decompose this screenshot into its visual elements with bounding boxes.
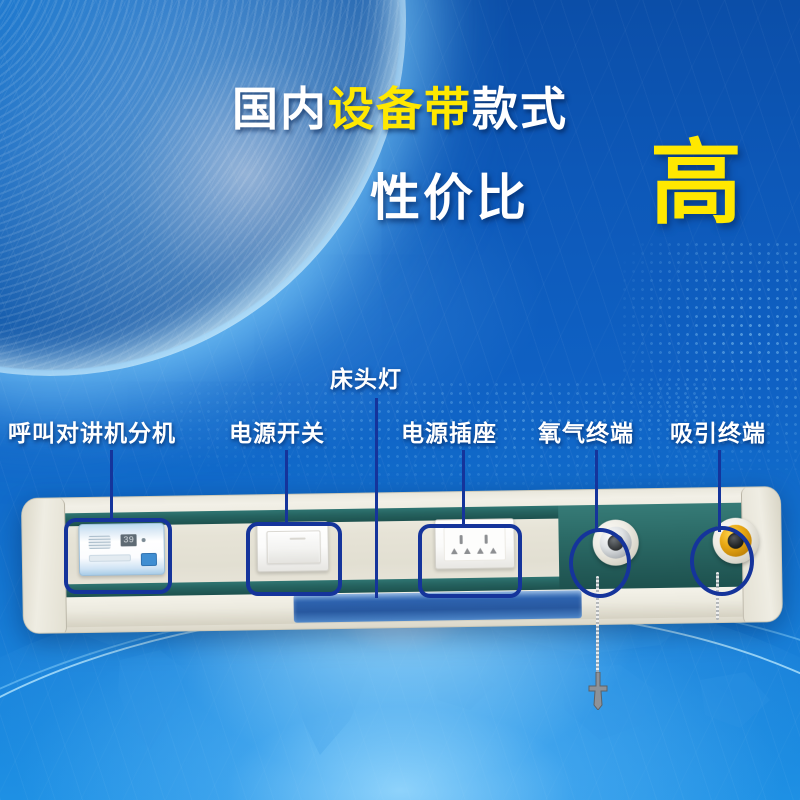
headline-block: 国内设备带款式 性价比 高 — [0, 86, 800, 132]
callout-label-bed-lamp: 床头灯 — [330, 366, 402, 392]
callout-label-power-switch: 电源开关 — [229, 420, 325, 446]
callout-label-oxygen-terminal: 氧气终端 — [538, 420, 634, 446]
leader-line-intercom — [110, 450, 113, 520]
promo-image-canvas: 国内设备带款式 性价比 高 呼叫对讲机分机 电源开关 床头灯 电源插座 氧气终端… — [0, 0, 800, 800]
headline-gao-text: 高 — [650, 138, 742, 230]
highlight-power-socket — [418, 524, 522, 598]
headline-value-text: 性价比 — [370, 158, 529, 230]
highlight-suction-terminal — [690, 526, 754, 596]
leader-line-power-switch — [285, 450, 288, 524]
callout-oxygen-terminal: 氧气终端 — [538, 414, 634, 448]
callout-bed-lamp: 床头灯 — [330, 360, 402, 394]
leader-line-bed-lamp — [375, 398, 378, 598]
callout-label-suction-terminal: 吸引终端 — [670, 420, 766, 446]
panel-end-cap-left — [21, 497, 67, 634]
highlight-power-switch — [246, 522, 342, 596]
headline-seg-yellow: 设备带 — [328, 83, 472, 135]
headline-line-1: 国内设备带款式 — [0, 86, 800, 132]
headline-seg-white-1: 国内 — [232, 83, 328, 135]
callout-suction-terminal: 吸引终端 — [670, 414, 766, 448]
leader-line-power-socket — [462, 450, 465, 526]
leader-line-suction-terminal — [718, 450, 721, 532]
callout-power-socket: 电源插座 — [401, 414, 497, 448]
highlight-oxygen-terminal — [569, 528, 631, 598]
headline-seg-white-2: 款式 — [472, 83, 568, 135]
callout-power-switch: 电源开关 — [229, 414, 325, 448]
callout-label-intercom: 呼叫对讲机分机 — [8, 420, 176, 446]
callout-intercom: 呼叫对讲机分机 — [8, 414, 176, 448]
leader-line-oxygen-terminal — [595, 450, 598, 532]
highlight-intercom — [64, 518, 172, 594]
callout-label-power-socket: 电源插座 — [401, 420, 497, 446]
oxygen-probe-icon — [584, 672, 612, 710]
